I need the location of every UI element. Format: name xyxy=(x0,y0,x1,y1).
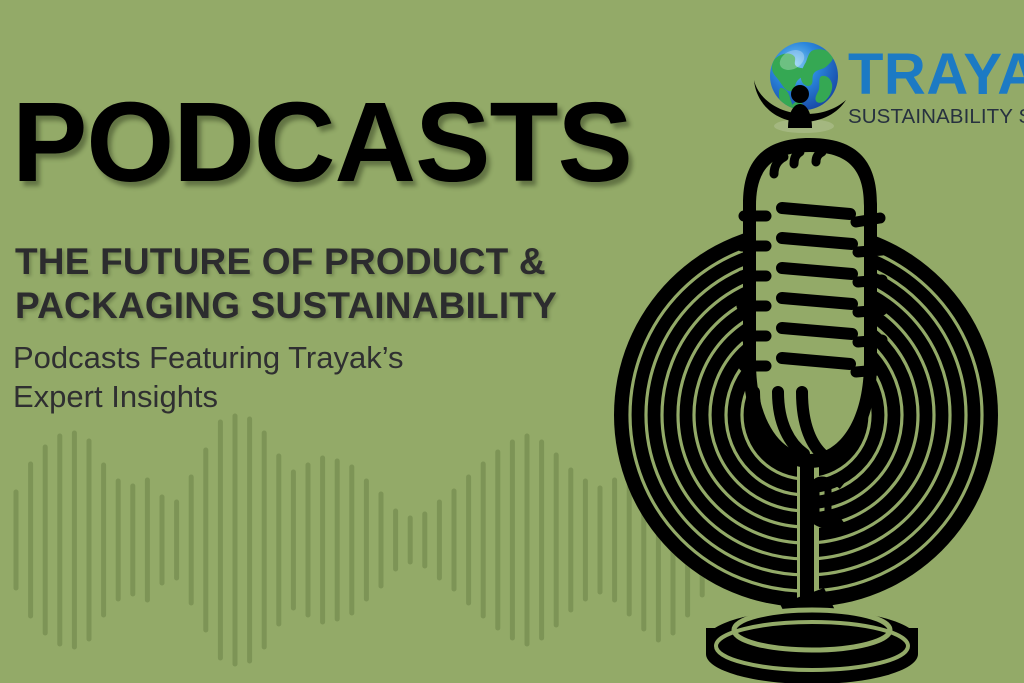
brand-tagline: SUSTAINABILITY STARTS xyxy=(848,104,1024,128)
globe-icon xyxy=(752,32,856,136)
waveform-bars xyxy=(16,416,702,664)
brand-wordmark: TRAYA SUSTAINABILITY STARTS xyxy=(848,46,1024,128)
tagline: Podcasts Featuring Trayak’s Expert Insig… xyxy=(13,338,404,416)
tagline-line-1: Podcasts Featuring Trayak’s xyxy=(13,338,404,377)
subtitle-line-1: THE FUTURE OF PRODUCT & xyxy=(15,240,557,284)
microphone-record-graphic xyxy=(604,130,1024,683)
subtitle-line-2: PACKAGING SUSTAINABILITY xyxy=(15,284,557,328)
trayak-logo: TRAYA SUSTAINABILITY STARTS xyxy=(752,32,1024,140)
subtitle: THE FUTURE OF PRODUCT & PACKAGING SUSTAI… xyxy=(15,240,557,328)
brand-name: TRAYA xyxy=(848,46,1024,104)
page-title: PODCASTS xyxy=(12,86,632,199)
tagline-line-2: Expert Insights xyxy=(13,377,404,416)
podcast-banner: PODCASTS THE FUTURE OF PRODUCT & PACKAGI… xyxy=(0,0,1024,683)
